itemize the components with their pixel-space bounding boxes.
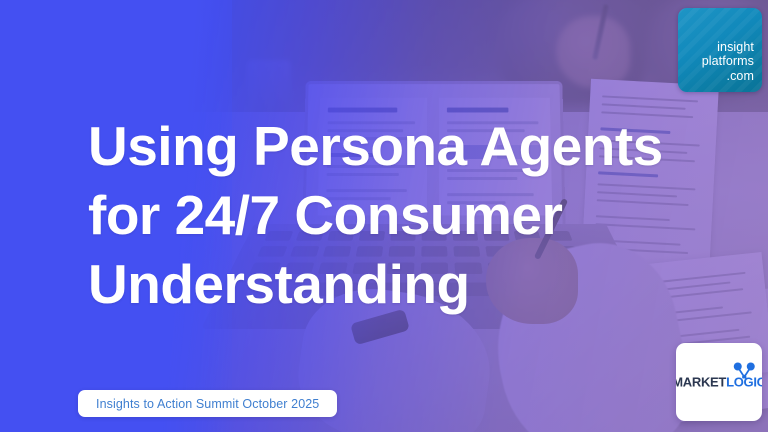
title-slide: Using Persona Agents for 24/7 Consumer U…	[0, 0, 768, 432]
logo-line-2: platforms	[702, 54, 754, 69]
insight-platforms-logo-text: insight platforms .com	[702, 40, 754, 84]
logo-line-3: .com	[702, 69, 754, 84]
page-title: Using Persona Agents for 24/7 Consumer U…	[88, 112, 708, 319]
node-molecule-icon	[733, 363, 755, 379]
insight-platforms-logo[interactable]: insight platforms .com	[678, 8, 762, 92]
market-logic-wordmark: MARKET LOGIC	[676, 375, 762, 390]
event-badge: Insights to Action Summit October 2025	[78, 390, 337, 417]
market-logic-logo[interactable]: MARKET LOGIC	[676, 343, 762, 421]
market-logic-word-market: MARKET	[676, 375, 726, 390]
event-badge-label: Insights to Action Summit October 2025	[96, 397, 319, 411]
market-logic-word-logic: LOGIC	[726, 375, 762, 390]
logo-line-1: insight	[702, 40, 754, 55]
